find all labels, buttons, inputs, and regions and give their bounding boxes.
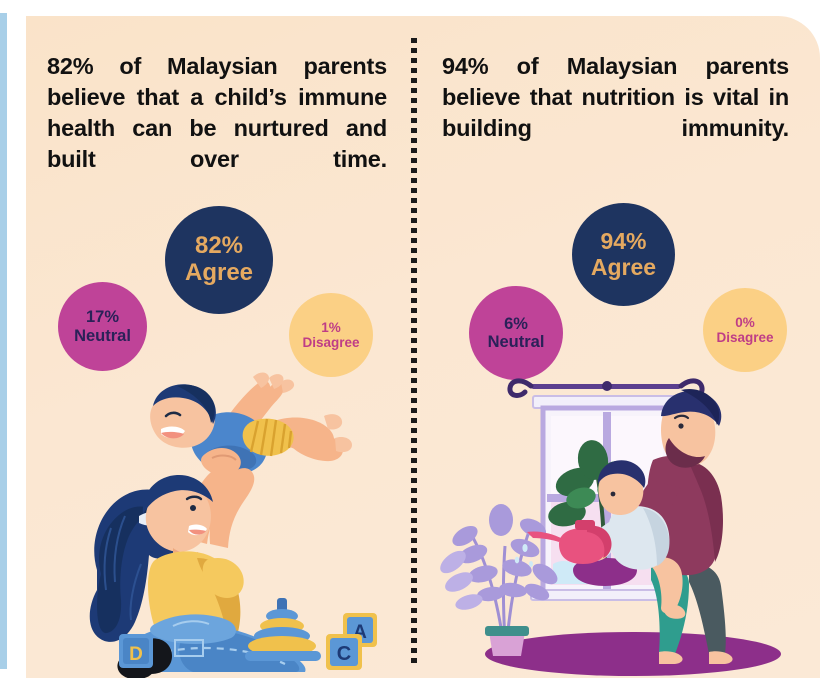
- stat-label: Neutral: [74, 327, 131, 345]
- stat-percent: 1%: [321, 320, 341, 335]
- infographic-root: 82% of Malaysian parents believe that a …: [0, 0, 820, 700]
- stat-bubble-agree: 94% Agree: [572, 203, 675, 306]
- left-accent-rail: [0, 13, 7, 669]
- stat-percent: 94%: [600, 229, 646, 255]
- stat-percent: 17%: [86, 308, 119, 326]
- stat-bubble-neutral: 17% Neutral: [58, 282, 147, 371]
- infographic-card: 82% of Malaysian parents believe that a …: [26, 16, 820, 678]
- illustration-mother-lifting-child: A C D: [81, 368, 426, 678]
- stat-label: Neutral: [488, 333, 545, 351]
- stat-label: Disagree: [302, 335, 359, 350]
- svg-text:C: C: [337, 643, 351, 665]
- panel-nutrition-immunity: 94% of Malaysian parents believe that nu…: [417, 16, 820, 678]
- svg-text:A: A: [353, 622, 367, 643]
- stat-bubble-neutral: 6% Neutral: [469, 286, 563, 380]
- stat-bubble-disagree: 1% Disagree: [289, 293, 373, 377]
- stat-label: Agree: [185, 260, 253, 287]
- svg-text:D: D: [129, 644, 143, 665]
- toy-block-d: D: [119, 634, 153, 668]
- panel-divider: [411, 38, 417, 663]
- stat-percent: 82%: [195, 233, 243, 260]
- stat-percent: 6%: [504, 315, 528, 333]
- toy-block-a: A: [343, 613, 377, 647]
- panel-headline: 94% of Malaysian parents believe that nu…: [442, 51, 789, 144]
- panel-immune-health: 82% of Malaysian parents believe that a …: [26, 16, 411, 678]
- stat-label: Disagree: [716, 330, 773, 345]
- stat-bubble-disagree: 0% Disagree: [703, 288, 787, 372]
- toy-block-c: C: [326, 634, 362, 670]
- stat-bubble-agree: 82% Agree: [165, 206, 273, 314]
- panel-headline: 82% of Malaysian parents believe that a …: [47, 51, 387, 175]
- illustration-father-child-watering-plant: [437, 368, 807, 678]
- stat-label: Agree: [591, 255, 656, 281]
- stat-percent: 0%: [735, 315, 755, 330]
